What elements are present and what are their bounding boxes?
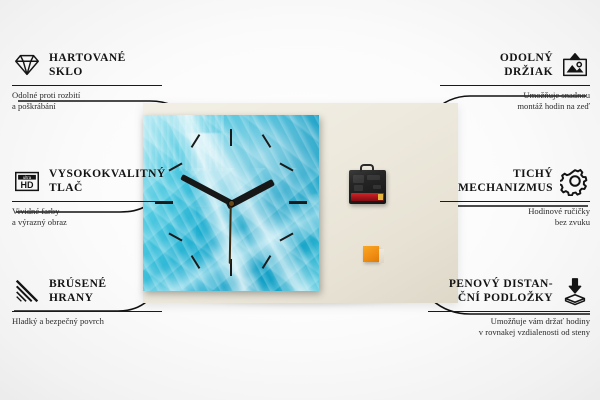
feature-title: HARTOVANÉ SKLO [49, 51, 126, 80]
wall-clock [143, 115, 319, 291]
feature-title: ODOLNÝ DRŽIAK [500, 51, 553, 80]
mechanism-detail-1 [353, 175, 364, 183]
feature-high-quality-print: ultra HD VYSOKOKVALITNÝ TLAČ Vividné far… [12, 164, 162, 229]
feature-title: BRÚSENÉ HRANY [49, 277, 106, 306]
hour-marker-3 [289, 201, 307, 204]
feature-header: BRÚSENÉ HRANY [12, 274, 162, 308]
feature-header: ultra HD VYSOKOKVALITNÝ TLAČ [12, 164, 162, 198]
hour-marker-12 [230, 129, 232, 146]
feature-foam-spacers: PENOVÝ DISTAN- ČNÍ PODLOŽKY Umožňuje vám… [428, 274, 590, 339]
mechanism-hanger-hook [360, 164, 374, 172]
hour-marker-1 [262, 134, 272, 148]
feature-hardened-glass: HARTOVANÉ SKLO Odolné proti rozbití a po… [12, 48, 162, 113]
feature-title: TICHÝ MECHANIZMUS [458, 167, 553, 196]
foam-pad-press-icon [560, 276, 590, 306]
feature-title: VYSOKOKVALITNÝ TLAČ [49, 167, 166, 196]
picture-hanger-icon [560, 50, 590, 80]
product-photo [143, 103, 458, 303]
feature-description: Vividné farby a výrazný obraz [12, 201, 162, 229]
feature-durable-hanger: ODOLNÝ DRŽIAK Umožňuje snadnou montáž ho… [440, 48, 590, 113]
mechanism-detail-2 [367, 175, 380, 180]
second-hand [229, 202, 232, 264]
hour-marker-4 [279, 232, 293, 241]
mechanism-detail-3 [354, 185, 363, 191]
feature-title: PENOVÝ DISTAN- ČNÍ PODLOŽKY [449, 277, 553, 306]
mechanism-detail-4 [373, 185, 381, 189]
hour-marker-5 [262, 255, 272, 269]
feature-description: Umožňuje snadnou montáž hodin na zeď [440, 85, 590, 113]
feature-header: PENOVÝ DISTAN- ČNÍ PODLOŽKY [428, 274, 590, 308]
clock-mechanism [349, 170, 386, 204]
hour-marker-2 [279, 162, 293, 171]
svg-text:HD: HD [21, 180, 34, 190]
feature-description: Hladký a bezpečný povrch [12, 311, 162, 327]
feature-description: Umožňuje vám držať hodiny v rovnakej vzd… [428, 311, 590, 339]
foam-spacer-pad [363, 246, 379, 262]
feature-header: ODOLNÝ DRŽIAK [440, 48, 590, 82]
feature-description: Hodinové ručičky bez zvuku [440, 201, 590, 229]
feature-header: HARTOVANÉ SKLO [12, 48, 162, 82]
diamond-icon [12, 50, 42, 80]
svg-text:ultra: ultra [23, 175, 32, 180]
clock-center-pin [229, 201, 234, 206]
feature-header: TICHÝ MECHANIZMUS [440, 164, 590, 198]
foam-pad-side-shadow [379, 249, 384, 263]
feature-silent-mechanism: TICHÝ MECHANIZMUS Hodinové ručičky bez z… [440, 164, 590, 229]
beveled-edge-icon [12, 276, 42, 306]
ultra-hd-badge-icon: ultra HD [12, 166, 42, 196]
feature-description: Odolné proti rozbití a poškrábání [12, 85, 162, 113]
glass-reflection-pane-2 [196, 115, 249, 207]
aa-battery [351, 193, 384, 201]
feature-beveled-edges: BRÚSENÉ HRANY Hladký a bezpečný povrch [12, 274, 162, 327]
gear-icon [560, 166, 590, 196]
infographic-stage: HARTOVANÉ SKLO Odolné proti rozbití a po… [0, 0, 600, 400]
battery-positive-terminal [378, 194, 383, 200]
